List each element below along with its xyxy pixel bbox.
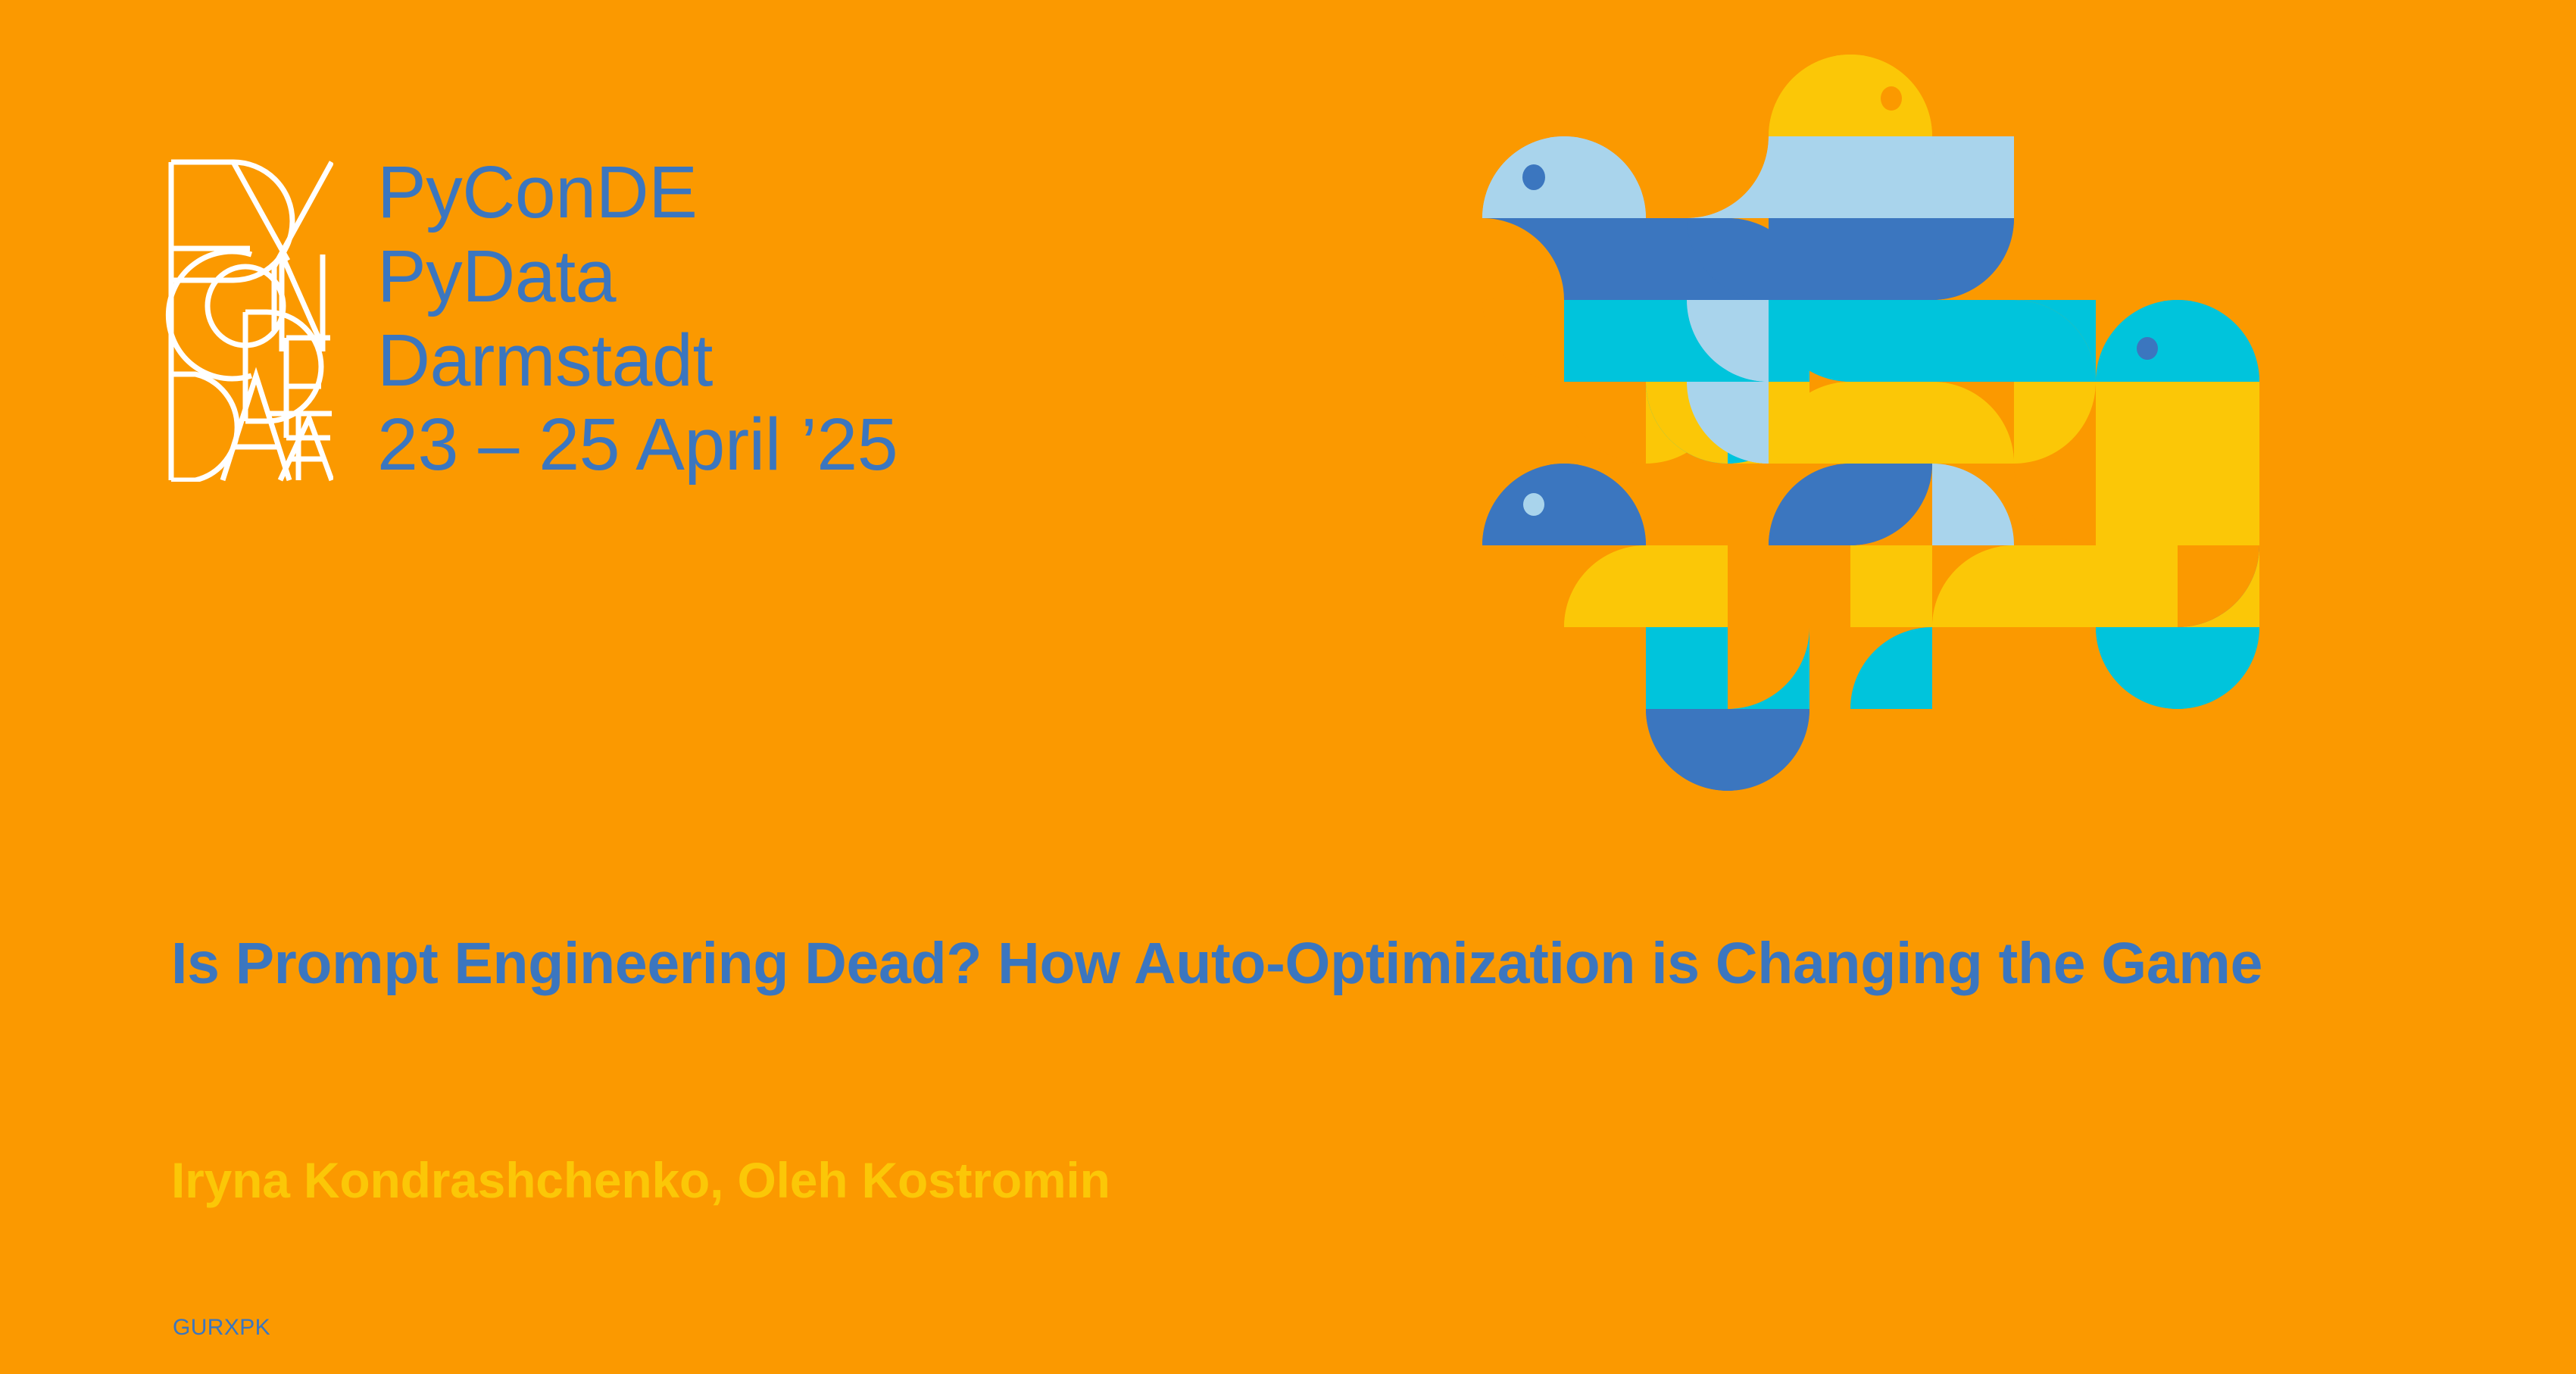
pyconde-pydata-monogram-icon — [161, 148, 333, 482]
bird-eye — [1522, 164, 1545, 190]
talk-speakers: Iryna Kondrashchenko, Oleh Kostromin — [171, 1150, 2383, 1210]
conference-logo-lockup: PyConDE PyData Darmstadt 23 – 25 April ’… — [161, 148, 898, 486]
talk-title: Is Prompt Engineering Dead? How Auto-Opt… — [171, 920, 2383, 1007]
conference-wordmark: PyConDE PyData Darmstadt 23 – 25 April ’… — [377, 150, 898, 486]
wordmark-line-pyconde: PyConDE — [377, 150, 898, 234]
presentation-slide: PyConDE PyData Darmstadt 23 – 25 April ’… — [0, 0, 2576, 1374]
bird-eye — [2137, 337, 2158, 360]
wordmark-line-pydata: PyData — [377, 234, 898, 318]
slide-code: GURXPK — [173, 1314, 270, 1341]
bird-eye — [1523, 493, 1544, 516]
bird-eye — [1881, 86, 1902, 111]
bird-tile-artwork — [1441, 55, 2341, 791]
wordmark-line-dates: 23 – 25 April ’25 — [377, 402, 898, 486]
wordmark-line-city: Darmstadt — [377, 318, 898, 402]
